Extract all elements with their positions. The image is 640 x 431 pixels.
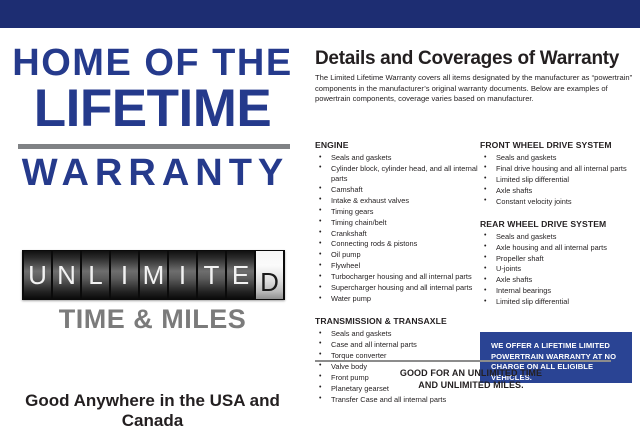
coverage-list-rear-wheel-drive: Seals and gaskets Axle housing and all i… — [480, 232, 640, 308]
list-item: Intake & exhaust valves — [315, 196, 485, 206]
list-item: Supercharger housing and all internal pa… — [315, 283, 485, 293]
coverage-list-front-wheel-drive: Seals and gaskets Final drive housing an… — [480, 153, 640, 207]
brand-panel: HOME OF THE LIFETIME WARRANTY U N L I M … — [0, 28, 305, 426]
bottom-note: GOOD FOR AN UNLIMITED TIME AND UNLIMITED… — [315, 368, 627, 391]
odometer-digit-label: T — [204, 262, 220, 288]
odometer-digit-label: I — [179, 262, 186, 288]
list-item: U-joints — [480, 264, 640, 274]
list-item: Cylinder block, cylinder head, and all i… — [315, 164, 485, 183]
odometer-digit-label: D — [260, 269, 279, 295]
list-item: Limited slip differential — [480, 175, 640, 185]
headline-home-of-the: HOME OF THE — [0, 44, 305, 82]
odometer-digit-label: I — [121, 262, 128, 288]
odometer-digit: E — [227, 251, 254, 299]
coverage-column-left: ENGINE Seals and gaskets Cylinder block,… — [315, 140, 485, 406]
section-heading-front-wheel-drive: FRONT WHEEL DRIVE SYSTEM — [480, 140, 640, 151]
list-item: Case and all internal parts — [315, 340, 485, 350]
list-item: Crankshaft — [315, 229, 485, 239]
bottom-note-line-2: AND UNLIMITED MILES. — [315, 380, 627, 392]
coverage-column-right: FRONT WHEEL DRIVE SYSTEM Seals and gaske… — [480, 140, 640, 308]
headline-divider-rule — [18, 144, 290, 149]
list-item: Axle shafts — [480, 186, 640, 196]
odometer-digit: I — [169, 251, 196, 299]
list-item: Seals and gaskets — [480, 232, 640, 242]
list-item: Timing chain/belt — [315, 218, 485, 228]
list-item: Propeller shaft — [480, 254, 640, 264]
headline-warranty: WARRANTY — [0, 154, 305, 192]
list-item: Connecting rods & pistons — [315, 239, 485, 249]
list-item: Turbocharger housing and all internal pa… — [315, 272, 485, 282]
bottom-divider-rule — [315, 360, 611, 362]
promo-line-1: WE OFFER A LIFETIME LIMITED — [491, 341, 622, 352]
list-item: Camshaft — [315, 185, 485, 195]
page-title: Details and Coverages of Warranty — [315, 48, 635, 70]
odometer-digit: N — [53, 251, 80, 299]
list-item: Axle shafts — [480, 275, 640, 285]
list-item: Constant velocity joints — [480, 197, 640, 207]
list-item: Water pump — [315, 294, 485, 304]
odometer-digit: U — [24, 251, 51, 299]
odometer-digit-label: N — [57, 262, 76, 288]
list-item: Final drive housing and all internal par… — [480, 164, 640, 174]
coverage-list-transmission: Seals and gaskets Case and all internal … — [315, 329, 485, 405]
bottom-note-line-1: GOOD FOR AN UNLIMITED TIME — [315, 368, 627, 380]
list-item: Internal bearings — [480, 286, 640, 296]
section-heading-transmission: TRANSMISSION & TRANSAXLE — [315, 316, 485, 327]
odometer-digit: L — [82, 251, 109, 299]
list-item: Seals and gaskets — [315, 329, 485, 339]
list-item: Seals and gaskets — [480, 153, 640, 163]
good-anywhere-footer: Good Anywhere in the USA and Canada — [0, 391, 305, 431]
odometer-digit-rolling: D — [256, 251, 283, 299]
odometer-digit: M — [140, 251, 167, 299]
list-item: Flywheel — [315, 261, 485, 271]
odometer-digit-label: E — [232, 262, 249, 288]
odometer-digit: T — [198, 251, 225, 299]
odometer-digit-label: L — [88, 262, 102, 288]
intro-paragraph: The Limited Lifetime Warranty covers all… — [315, 73, 633, 105]
list-item: Seals and gaskets — [315, 153, 485, 163]
headline-lifetime: LIFETIME — [0, 82, 305, 135]
section-heading-rear-wheel-drive: REAR WHEEL DRIVE SYSTEM — [480, 219, 640, 230]
odometer-digit-label: U — [28, 262, 47, 288]
time-and-miles-label: TIME & MILES — [0, 306, 305, 333]
list-item: Oil pump — [315, 250, 485, 260]
list-item: Transfer Case and all internal parts — [315, 395, 485, 405]
top-accent-bar — [0, 0, 640, 28]
odometer-digit: I — [111, 251, 138, 299]
list-item: Timing gears — [315, 207, 485, 217]
odometer-graphic: U N L I M I T E D — [22, 250, 285, 300]
warranty-marketing-page: { "theme": { "navy": "#1d2d72", "brand_b… — [0, 0, 640, 426]
details-panel: Details and Coverages of Warranty The Li… — [305, 28, 640, 426]
section-heading-engine: ENGINE — [315, 140, 485, 151]
list-item: Axle housing and all internal parts — [480, 243, 640, 253]
coverage-list-engine: Seals and gaskets Cylinder block, cylind… — [315, 153, 485, 304]
odometer-digit-label: M — [143, 262, 165, 288]
list-item: Limited slip differential — [480, 297, 640, 307]
